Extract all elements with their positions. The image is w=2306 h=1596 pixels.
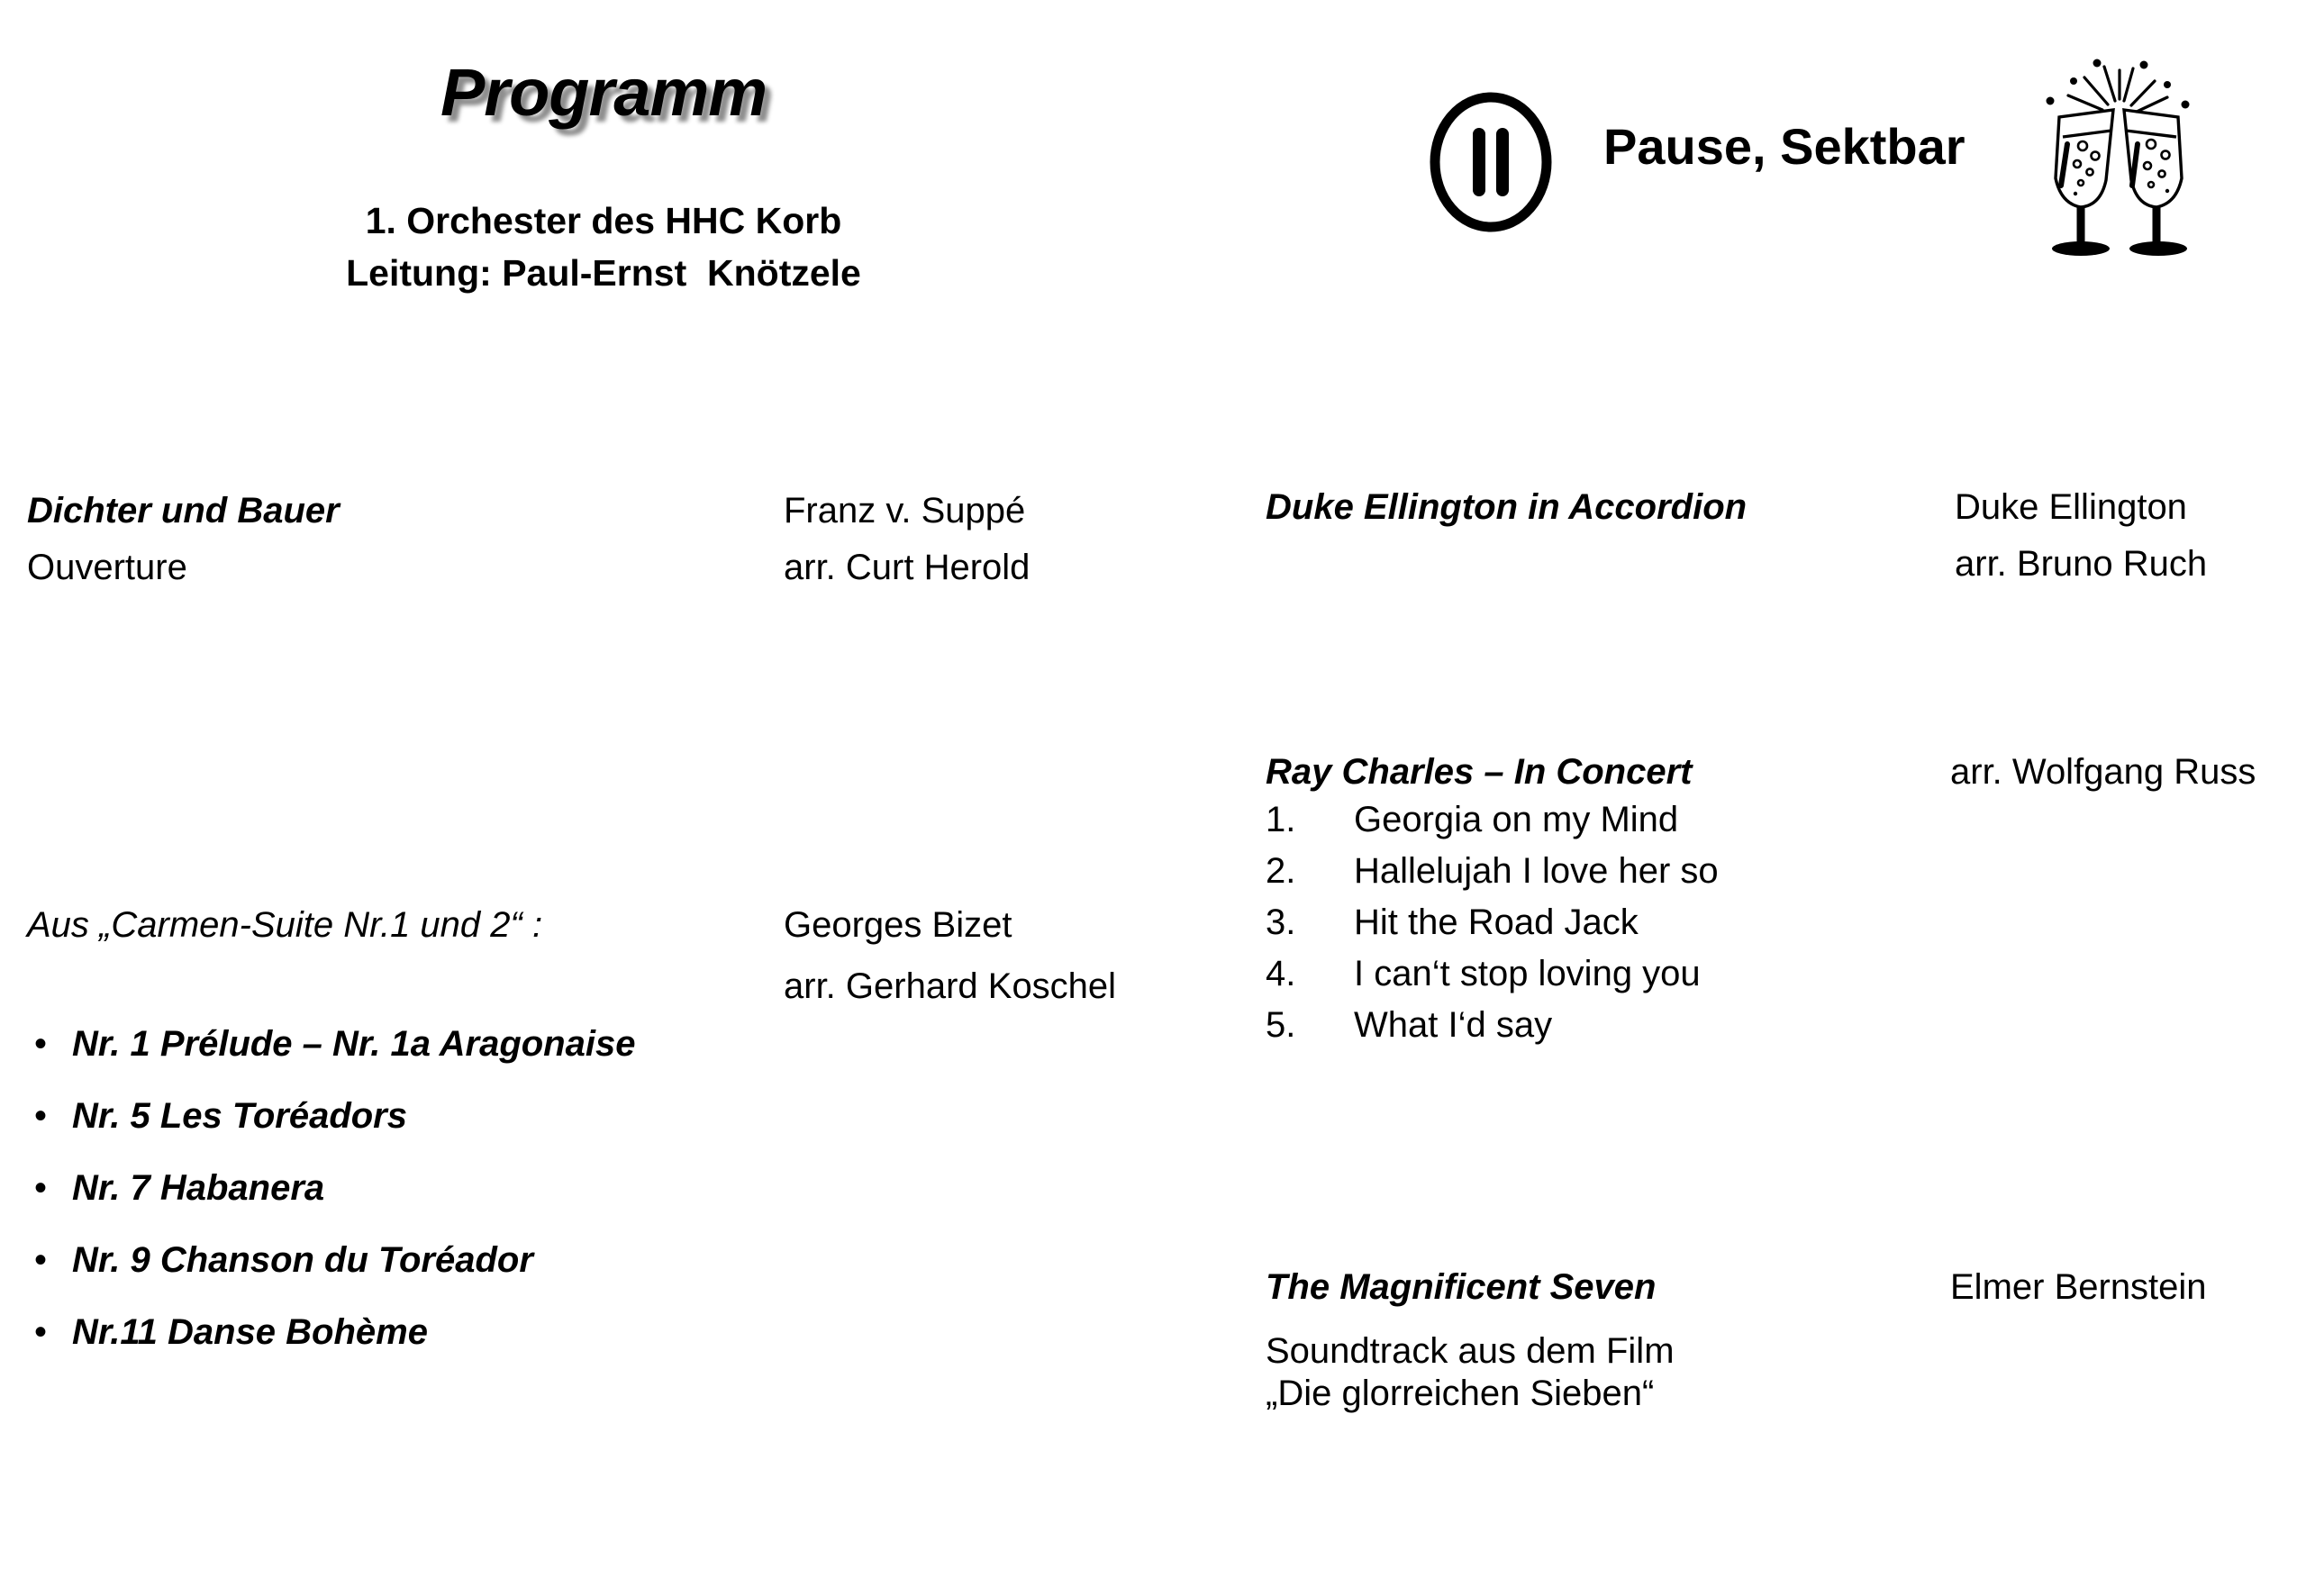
list-item-number: 4. — [1266, 954, 1295, 994]
list-item-label: What I‘d say — [1354, 1005, 1552, 1045]
list-item: •Nr. 9 Chanson du Toréador — [27, 1240, 635, 1281]
orchestra-name: 1. Orchester des HHC Korb — [0, 200, 1207, 242]
list-item-number: 1. — [1266, 800, 1295, 840]
list-item: •Nr. 7 Habanera — [27, 1168, 635, 1209]
list-item-label: Nr.11 Danse Bohème — [72, 1312, 428, 1352]
conductor-name: Leitung: Paul-Ernst Knötzele — [0, 252, 1207, 295]
program-page: Programm 1. Orchester des HHC Korb Leitu… — [0, 0, 2306, 1596]
right-entry1-title: Duke Ellington in Accordion — [1266, 487, 1747, 528]
right-entry2-title: Ray Charles – In Concert — [1266, 752, 1693, 793]
pause-section: Pause, Sektbar — [1428, 54, 2238, 270]
list-item-label: Nr. 1 Prélude – Nr. 1a Aragonaise — [72, 1024, 635, 1064]
list-item-label: Nr. 9 Chanson du Toréador — [72, 1240, 533, 1280]
left-entry1-composer: Franz v. Suppé — [784, 491, 1025, 531]
right-entry1-composer: Duke Ellington — [1955, 487, 2187, 528]
left-entry2-arranger: arr. Gerhard Koschel — [784, 966, 1116, 1007]
left-entry1-title: Dichter und Bauer — [27, 491, 340, 531]
list-item-label: Hit the Road Jack — [1354, 902, 1639, 942]
right-entry1-arranger: arr. Bruno Ruch — [1955, 544, 2207, 585]
list-item: •Nr. 1 Prélude – Nr. 1a Aragonaise — [27, 1024, 635, 1065]
left-entry1-subtitle: Ouverture — [27, 548, 187, 588]
list-item: •Nr. 5 Les Toréadors — [27, 1096, 635, 1137]
right-entry2-arranger: arr. Wolfgang Russ — [1950, 752, 2256, 793]
carmen-movement-list: •Nr. 1 Prélude – Nr. 1a Aragonaise •Nr. … — [27, 1024, 635, 1384]
list-item-number: 2. — [1266, 851, 1295, 892]
right-entry3-note-line2: „Die glorreichen Sieben“ — [1266, 1374, 1654, 1414]
list-item-label: Nr. 7 Habanera — [72, 1168, 324, 1208]
ray-charles-track-list: 1.Georgia on my Mind 2.Hallelujah I love… — [1266, 800, 1719, 1056]
list-item-label: Georgia on my Mind — [1354, 800, 1678, 839]
list-item-label: I can‘t stop loving you — [1354, 954, 1701, 993]
page-title: Programm — [0, 54, 1207, 131]
list-item: •Nr.11 Danse Bohème — [27, 1312, 635, 1353]
bullet-icon: • — [34, 1096, 47, 1137]
bullet-icon: • — [34, 1312, 47, 1353]
list-item: 2.Hallelujah I love her so — [1266, 851, 1719, 892]
list-item-label: Nr. 5 Les Toréadors — [72, 1096, 407, 1136]
list-item-number: 5. — [1266, 1005, 1295, 1046]
right-entry3-composer: Elmer Bernstein — [1950, 1267, 2207, 1308]
list-item-label: Hallelujah I love her so — [1354, 851, 1719, 891]
list-item: 3.Hit the Road Jack — [1266, 902, 1719, 943]
list-item: 5.What I‘d say — [1266, 1005, 1719, 1046]
bullet-icon: • — [34, 1240, 47, 1281]
left-entry1-arranger: arr. Curt Herold — [784, 548, 1030, 588]
bullet-icon: • — [34, 1168, 47, 1209]
left-entry2-composer: Georges Bizet — [784, 905, 1012, 946]
champagne-glasses-icon — [2018, 54, 2225, 275]
pause-label: Pause, Sektbar — [1603, 117, 1966, 176]
list-item: 4.I can‘t stop loving you — [1266, 954, 1719, 994]
left-entry2-title: Aus „Carmen-Suite Nr.1 und 2“ : — [27, 905, 542, 946]
bullet-icon: • — [34, 1024, 47, 1065]
right-entry3-title: The Magnificent Seven — [1266, 1267, 1656, 1308]
pause-icon — [1428, 90, 1554, 239]
list-item: 1.Georgia on my Mind — [1266, 800, 1719, 840]
right-entry3-note-line1: Soundtrack aus dem Film — [1266, 1331, 1675, 1372]
list-item-number: 3. — [1266, 902, 1295, 943]
